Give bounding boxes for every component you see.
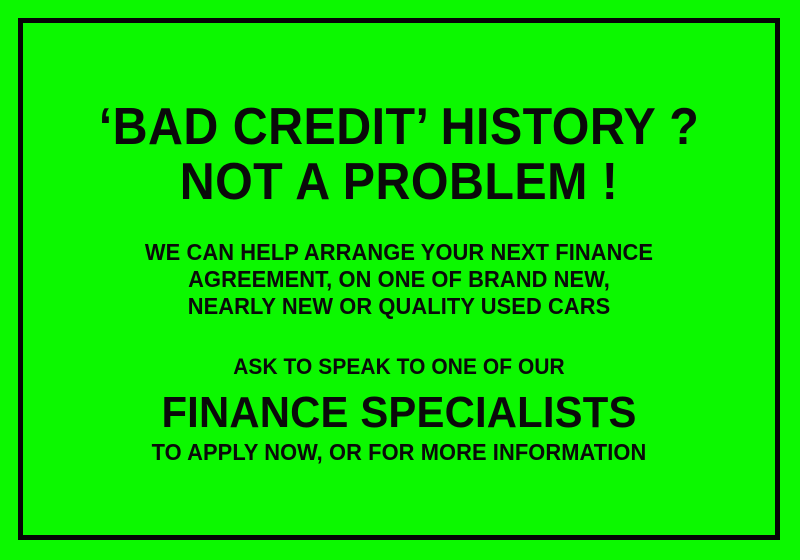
body-line-1: WE CAN HELP ARRANGE YOUR NEXT FINANCE	[42, 241, 756, 264]
body-line-2: AGREEMENT, ON ONE OF BRAND NEW,	[42, 268, 756, 291]
headline-line-2: NOT A PROBLEM !	[49, 156, 748, 208]
cta-line-1: ASK TO SPEAK TO ONE OF OUR	[42, 356, 756, 378]
cta-headline-finance-specialists: FINANCE SPECIALISTS	[42, 391, 756, 435]
body-line-3: NEARLY NEW OR QUALITY USED CARS	[42, 295, 756, 318]
cta-line-3: TO APPLY NOW, OR FOR MORE INFORMATION	[42, 441, 756, 464]
finance-advert-poster: ‘BAD CREDIT’ HISTORY ? NOT A PROBLEM ! W…	[0, 0, 800, 560]
headline-line-1: ‘BAD CREDIT’ HISTORY ?	[49, 101, 748, 153]
poster-content: ‘BAD CREDIT’ HISTORY ? NOT A PROBLEM ! W…	[23, 23, 775, 535]
